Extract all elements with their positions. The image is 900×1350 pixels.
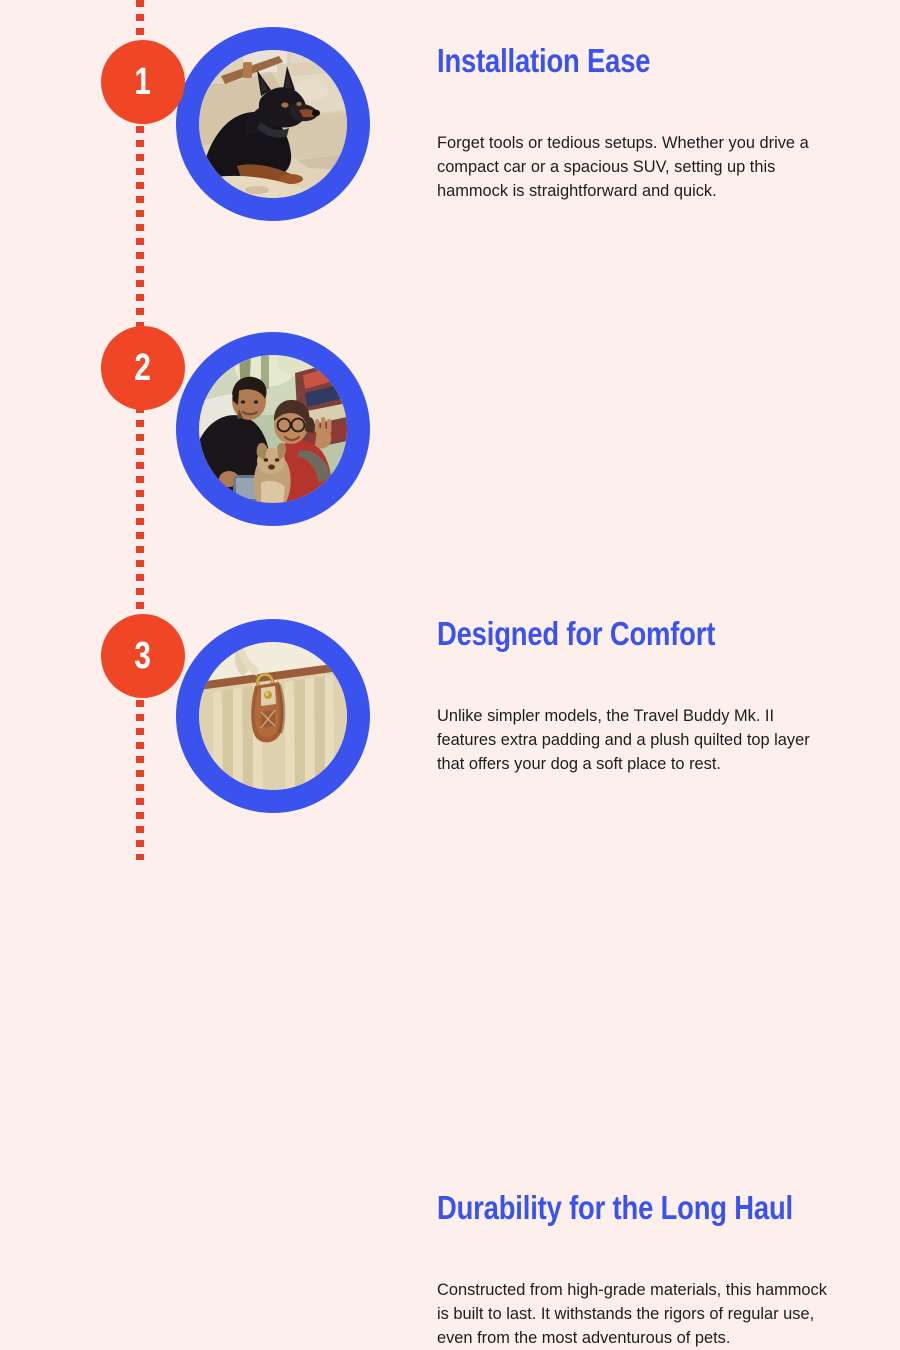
- photo-2: [199, 355, 347, 503]
- text-block-3: Durability for the Long Haul Constructed…: [437, 1191, 837, 1350]
- step-number-badge-2: 2: [101, 326, 185, 410]
- step-number-1: 1: [135, 63, 151, 101]
- photo-3: [199, 642, 347, 790]
- section-heading-3: Durability for the Long Haul: [437, 1191, 769, 1225]
- section-row-3: 3: [0, 574, 900, 860]
- couple-selfie-with-dog-illustration: [199, 355, 347, 503]
- photo-ring-3: [176, 619, 370, 813]
- step-number-badge-1: 1: [101, 40, 185, 124]
- section-row-2: 2: [0, 287, 900, 574]
- section-body-1: Forget tools or tedious setups. Whether …: [437, 131, 832, 203]
- section-body-3: Constructed from high-grade materials, t…: [437, 1278, 832, 1350]
- photo-ring-2: [176, 332, 370, 526]
- section-row-1: 1: [0, 0, 900, 287]
- text-block-1: Installation Ease Forget tools or tediou…: [437, 44, 837, 203]
- step-number-2: 2: [135, 349, 151, 387]
- section-heading-1: Installation Ease: [437, 44, 769, 78]
- dog-in-car-illustration: [199, 50, 347, 198]
- step-number-badge-3: 3: [101, 614, 185, 698]
- photo-1: [199, 50, 347, 198]
- photo-ring-1: [176, 27, 370, 221]
- step-number-3: 3: [135, 637, 151, 675]
- quilted-fabric-strap-buckle-illustration: [199, 642, 347, 790]
